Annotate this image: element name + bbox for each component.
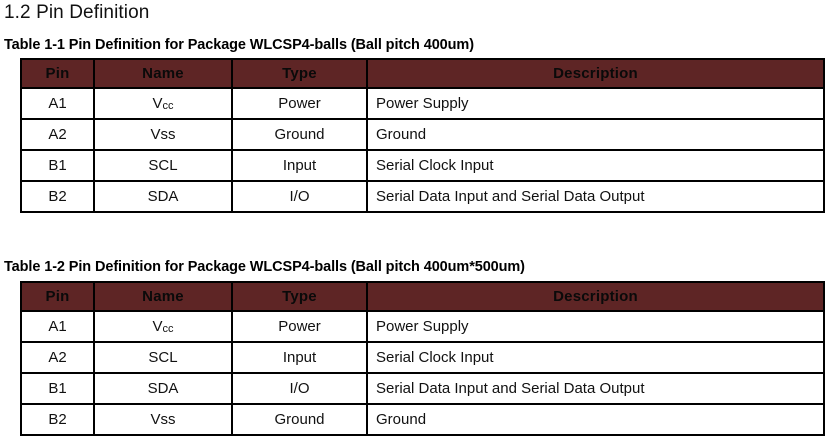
cell-name-subscript: cc xyxy=(163,100,174,112)
cell-type: Ground xyxy=(232,119,367,150)
table-row: B1 SCL Input Serial Clock Input xyxy=(21,150,824,181)
cell-description: Power Supply xyxy=(367,311,824,342)
cell-type: I/O xyxy=(232,181,367,212)
cell-name: SCL xyxy=(94,150,232,181)
cell-pin: A2 xyxy=(21,119,94,150)
table-caption-1: Table 1-1 Pin Definition for Package WLC… xyxy=(4,36,474,54)
page-title: 1.2 Pin Definition xyxy=(4,0,149,26)
column-header-name: Name xyxy=(94,59,232,88)
cell-pin: A1 xyxy=(21,311,94,342)
cell-name-subscript: cc xyxy=(163,323,174,335)
cell-type: Ground xyxy=(232,404,367,435)
cell-pin: B2 xyxy=(21,404,94,435)
cell-name: Vss xyxy=(94,119,232,150)
cell-name: Vcc xyxy=(94,311,232,342)
cell-name-text: V xyxy=(152,95,162,112)
cell-description: Serial Data Input and Serial Data Output xyxy=(367,373,824,404)
cell-type: I/O xyxy=(232,373,367,404)
table-row: B2 Vss Ground Ground xyxy=(21,404,824,435)
cell-type: Input xyxy=(232,342,367,373)
cell-name-text: V xyxy=(152,318,162,335)
table-row: B1 SDA I/O Serial Data Input and Serial … xyxy=(21,373,824,404)
table-header-row: Pin Name Type Description xyxy=(21,282,824,311)
cell-name-text: SDA xyxy=(148,188,179,205)
cell-type: Power xyxy=(232,88,367,119)
table-row: A2 SCL Input Serial Clock Input xyxy=(21,342,824,373)
cell-type: Input xyxy=(232,150,367,181)
cell-name-text: Vss xyxy=(150,411,175,428)
cell-description: Ground xyxy=(367,119,824,150)
column-header-description: Description xyxy=(367,282,824,311)
cell-name-text: Vss xyxy=(150,126,175,143)
cell-pin: B1 xyxy=(21,373,94,404)
cell-name: Vcc xyxy=(94,88,232,119)
cell-name: Vss xyxy=(94,404,232,435)
column-header-pin: Pin xyxy=(21,59,94,88)
cell-name: SDA xyxy=(94,181,232,212)
cell-pin: B1 xyxy=(21,150,94,181)
table-row: A2 Vss Ground Ground xyxy=(21,119,824,150)
column-header-type: Type xyxy=(232,282,367,311)
cell-name-text: SCL xyxy=(148,157,177,174)
column-header-description: Description xyxy=(367,59,824,88)
cell-name: SCL xyxy=(94,342,232,373)
column-header-name: Name xyxy=(94,282,232,311)
column-header-pin: Pin xyxy=(21,282,94,311)
cell-pin: A1 xyxy=(21,88,94,119)
table-row: A1 Vcc Power Power Supply xyxy=(21,88,824,119)
pin-definition-table-1: Pin Name Type Description A1 Vcc Power P… xyxy=(20,58,825,213)
cell-description: Serial Clock Input xyxy=(367,342,824,373)
table-header-row: Pin Name Type Description xyxy=(21,59,824,88)
cell-name-text: SDA xyxy=(148,380,179,397)
cell-description: Serial Data Input and Serial Data Output xyxy=(367,181,824,212)
cell-description: Serial Clock Input xyxy=(367,150,824,181)
pin-definition-table-2: Pin Name Type Description A1 Vcc Power P… xyxy=(20,281,825,436)
datasheet-page: 1.2 Pin Definition Table 1-1 Pin Definit… xyxy=(0,0,832,441)
table-row: A1 Vcc Power Power Supply xyxy=(21,311,824,342)
cell-name: SDA xyxy=(94,373,232,404)
cell-type: Power xyxy=(232,311,367,342)
cell-pin: B2 xyxy=(21,181,94,212)
cell-pin: A2 xyxy=(21,342,94,373)
cell-description: Ground xyxy=(367,404,824,435)
cell-name-text: SCL xyxy=(148,349,177,366)
cell-description: Power Supply xyxy=(367,88,824,119)
column-header-type: Type xyxy=(232,59,367,88)
table-caption-2: Table 1-2 Pin Definition for Package WLC… xyxy=(4,258,525,276)
table-row: B2 SDA I/O Serial Data Input and Serial … xyxy=(21,181,824,212)
